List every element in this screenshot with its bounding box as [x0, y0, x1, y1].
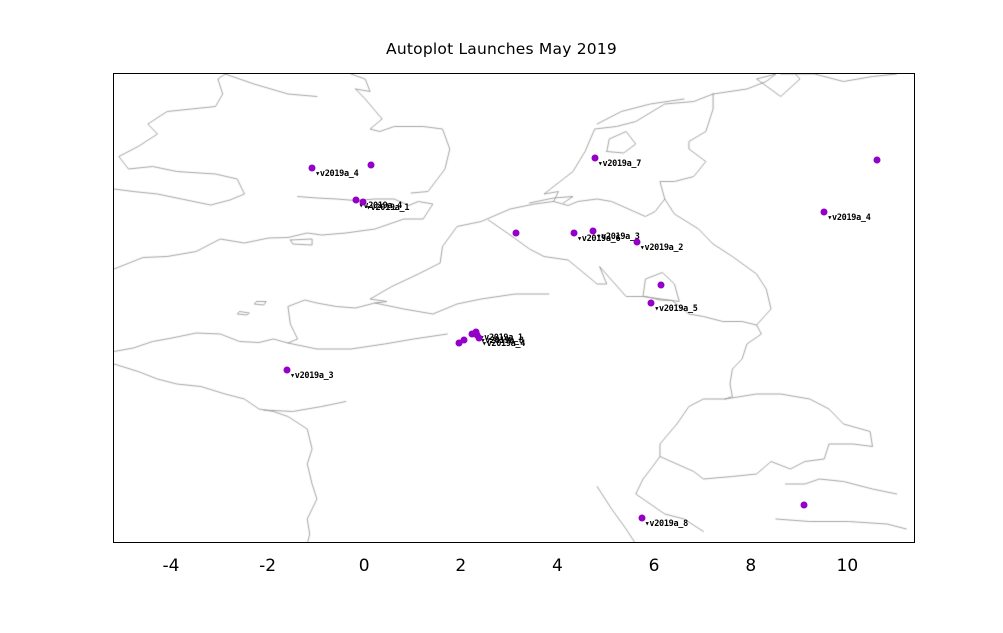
y-tick	[113, 174, 114, 175]
x-tick-label: 10	[837, 556, 859, 576]
x-tick-label: 4	[552, 556, 563, 576]
scatter-point[interactable]	[800, 502, 807, 509]
y-minor-tick	[113, 524, 114, 525]
y-tick	[113, 74, 114, 75]
scatter-point-label: ▾v2019a_4	[482, 339, 525, 349]
scatter-point-label: ▾v2019a_5	[654, 304, 697, 314]
figure-canvas: Autoplot Launches May 2019 ▾v2019a_4▾v20…	[0, 0, 1003, 633]
y-tick	[113, 474, 114, 475]
x-tick-label: 6	[649, 556, 660, 576]
y-tick	[113, 274, 114, 275]
x-tick-label: 8	[745, 556, 756, 576]
y-tick	[113, 374, 114, 375]
x-tick-label: -4	[162, 556, 179, 576]
scatter-point[interactable]	[874, 157, 881, 164]
x-tick-label: 0	[359, 556, 370, 576]
scatter-point-label: ▾v2019a_2	[640, 243, 683, 253]
chart-title: Autoplot Launches May 2019	[0, 40, 1003, 58]
scatter-point-label: ▾v2019a_3	[290, 371, 333, 381]
scatter-point-label: ▾v2019a_1	[366, 203, 409, 213]
scatter-point[interactable]	[461, 337, 468, 344]
scatter-point[interactable]	[657, 282, 664, 289]
scatter-point-label: ▾v2019a_4	[315, 169, 358, 179]
scatter-point-label: ▾v2019a_7	[598, 159, 641, 169]
y-minor-tick	[113, 124, 114, 125]
y-minor-tick	[113, 324, 114, 325]
y-minor-tick	[113, 224, 114, 225]
scatter-point[interactable]	[368, 162, 375, 169]
map-coastlines-layer	[114, 74, 915, 543]
plot-axes-area[interactable]: ▾v2019a_4▾v2019a_4▾v2019a_1▾v2019a_7▾v20…	[113, 73, 915, 543]
x-tick-label: -2	[259, 556, 276, 576]
scatter-point-label: ▾v2019a_8	[645, 519, 688, 529]
scatter-point[interactable]	[512, 230, 519, 237]
y-minor-tick	[113, 424, 114, 425]
x-tick-label: 2	[455, 556, 466, 576]
scatter-point-label: ▾v2019a_4	[827, 213, 870, 223]
